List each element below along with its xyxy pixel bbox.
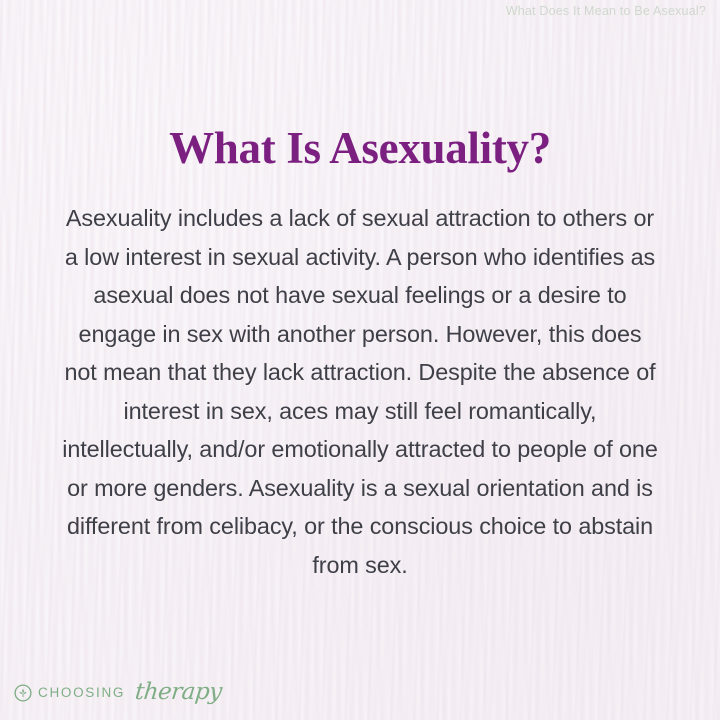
logo-script-wordmark: therapy bbox=[134, 681, 223, 704]
logo-wordmark: Choosing bbox=[38, 685, 125, 700]
infographic-card: What Does It Mean to Be Asexual? What Is… bbox=[0, 0, 720, 720]
lotus-badge-icon bbox=[14, 684, 32, 702]
article-kicker: What Does It Mean to Be Asexual? bbox=[506, 4, 706, 18]
card-content: What Does It Mean to Be Asexual? What Is… bbox=[0, 0, 720, 720]
page-title: What Is Asexuality? bbox=[0, 125, 720, 172]
body-paragraph: Asexuality includes a lack of sexual att… bbox=[62, 199, 658, 584]
brand-logo[interactable]: Choosing therapy bbox=[14, 681, 222, 704]
